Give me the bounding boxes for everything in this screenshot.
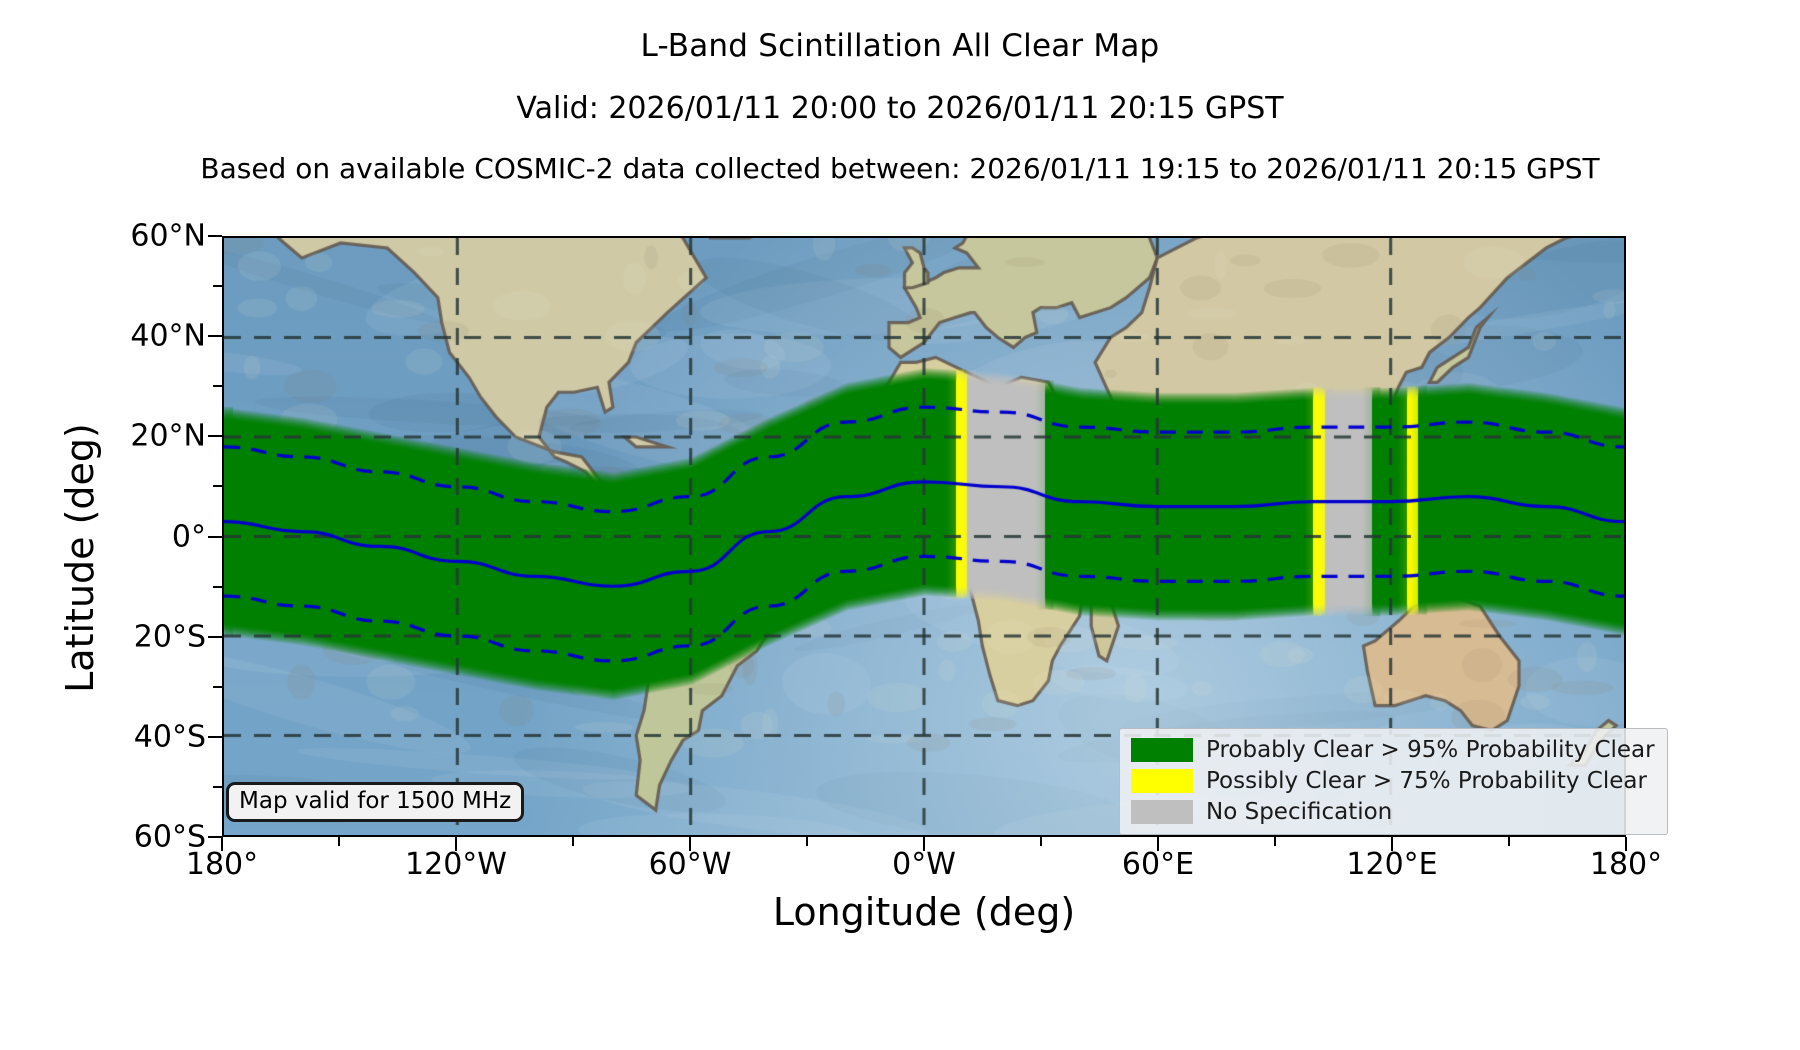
y-tick-mark-minor [213,686,222,688]
legend-item-possibly-clear: Possibly Clear > 75% Probability Clear [1131,768,1655,794]
legend-label-no-specification: No Specification [1206,799,1392,825]
legend-swatch-gray [1131,800,1193,824]
legend-swatch-yellow [1131,769,1193,793]
y-tick-mark [208,235,222,237]
x-tick-mark [1157,837,1159,851]
y-tick-label: 60°N [56,219,206,254]
x-tick-label: 120°E [1292,847,1492,882]
y-tick-mark [208,736,222,738]
x-tick-label: 60°E [1058,847,1258,882]
x-tick-mark [221,837,223,851]
legend-swatch-green [1131,738,1193,762]
legend-label-possibly-clear: Possibly Clear > 75% Probability Clear [1206,768,1647,794]
page-title: L-Band Scintillation All Clear Map [0,28,1800,64]
x-tick-label: 120°W [356,847,556,882]
x-tick-mark [1391,837,1393,851]
x-tick-mark [923,837,925,851]
y-tick-mark-minor [213,786,222,788]
y-tick-mark-minor [213,385,222,387]
data-basis-subtitle: Based on available COSMIC-2 data collect… [0,152,1800,185]
x-tick-mark-minor [806,837,808,846]
legend-label-probably-clear: Probably Clear > 95% Probability Clear [1206,737,1655,763]
y-tick-mark-minor [213,285,222,287]
legend[interactable]: Probably Clear > 95% Probability Clear P… [1119,728,1668,835]
x-tick-label: 180° [1526,847,1726,882]
legend-item-probably-clear: Probably Clear > 95% Probability Clear [1131,737,1655,763]
x-tick-mark [1625,837,1627,851]
x-tick-mark-minor [572,837,574,846]
x-tick-mark-minor [1508,837,1510,846]
x-tick-label: 60°W [590,847,790,882]
frequency-annotation: Map valid for 1500 MHz [226,782,524,822]
x-tick-label: 180° [122,847,322,882]
valid-time-subtitle: Valid: 2026/01/11 20:00 to 2026/01/11 20… [0,91,1800,126]
y-tick-mark-minor [213,586,222,588]
y-tick-mark-minor [213,485,222,487]
y-tick-mark [208,335,222,337]
x-tick-mark-minor [1274,837,1276,846]
x-tick-mark-minor [338,837,340,846]
x-tick-label: 0°W [824,847,1024,882]
y-tick-mark [208,636,222,638]
y-tick-mark [208,836,222,838]
x-tick-mark [455,837,457,851]
legend-item-no-specification: No Specification [1131,799,1655,825]
y-tick-mark [208,435,222,437]
x-axis-title: Longitude (deg) [222,890,1626,934]
title-block: L-Band Scintillation All Clear Map Valid… [0,0,1800,185]
y-axis-title: Latitude (deg) [58,258,102,858]
y-tick-mark [208,536,222,538]
x-tick-mark-minor [1040,837,1042,846]
x-tick-mark [689,837,691,851]
